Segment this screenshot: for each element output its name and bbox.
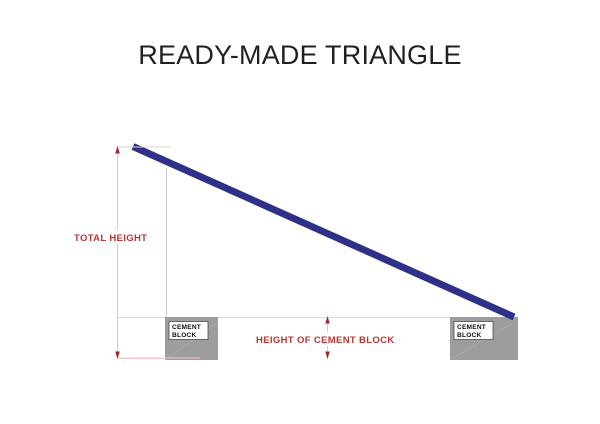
block-height-label: HEIGHT OF CEMENT BLOCK (256, 335, 395, 346)
total-height-label: TOTAL HEIGHT (74, 233, 147, 244)
diagram-canvas: READY-MADE TRIANGLE CEMENT BLOCK CEMENT … (0, 0, 600, 424)
right-block-label-line2: BLOCK (457, 332, 481, 339)
right-block-label-line1: CEMENT (457, 324, 486, 331)
left-cement-block: CEMENT BLOCK (165, 317, 218, 360)
left-block-label-line2: BLOCK (172, 332, 196, 339)
right-cement-block: CEMENT BLOCK (450, 317, 518, 360)
ready-made-triangle-diagram: READY-MADE TRIANGLE CEMENT BLOCK CEMENT … (0, 0, 600, 424)
diagram-title: READY-MADE TRIANGLE (138, 40, 461, 70)
left-block-label-line1: CEMENT (172, 324, 201, 331)
